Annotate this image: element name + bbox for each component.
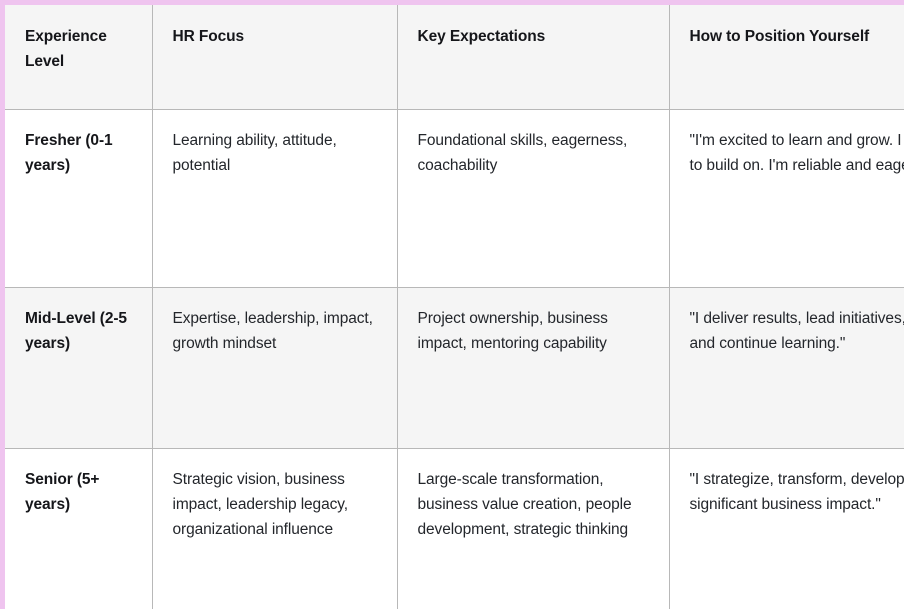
table-viewport: Experience Level HR Focus Key Expectatio…: [0, 0, 904, 609]
cell-hr-focus: Learning ability, attitude, potential: [152, 109, 397, 287]
column-header-key-expectations: Key Expectations: [397, 5, 669, 109]
cell-experience-level: Fresher (0-1 years): [5, 109, 152, 287]
cell-experience-level: Mid-Level (2-5 years): [5, 287, 152, 448]
cell-key-expectations: Large-scale transformation, business val…: [397, 448, 669, 609]
table-header: Experience Level HR Focus Key Expectatio…: [5, 5, 904, 109]
column-header-hr-focus: HR Focus: [152, 5, 397, 109]
table-row: Senior (5+ years) Strategic vision, busi…: [5, 448, 904, 609]
column-header-experience-level: Experience Level: [5, 5, 152, 109]
column-header-how-to-position-yourself: How to Position Yourself: [669, 5, 904, 109]
table-row: Mid-Level (2-5 years) Expertise, leaders…: [5, 287, 904, 448]
cell-key-expectations: Foundational skills, eagerness, coachabi…: [397, 109, 669, 287]
table-row: Fresher (0-1 years) Learning ability, at…: [5, 109, 904, 287]
cell-how-to-position-yourself: "I'm excited to learn and grow. I have f…: [669, 109, 904, 287]
experience-level-comparison-table: Experience Level HR Focus Key Expectatio…: [5, 5, 904, 609]
cell-key-expectations: Project ownership, business impact, ment…: [397, 287, 669, 448]
cell-how-to-position-yourself: "I deliver results, lead initiatives, de…: [669, 287, 904, 448]
cell-experience-level: Senior (5+ years): [5, 448, 152, 609]
cell-hr-focus: Strategic vision, business impact, leade…: [152, 448, 397, 609]
table-body: Fresher (0-1 years) Learning ability, at…: [5, 109, 904, 609]
table-header-row: Experience Level HR Focus Key Expectatio…: [5, 5, 904, 109]
cell-hr-focus: Expertise, leadership, impact, growth mi…: [152, 287, 397, 448]
cell-how-to-position-yourself: "I strategize, transform, develop leader…: [669, 448, 904, 609]
